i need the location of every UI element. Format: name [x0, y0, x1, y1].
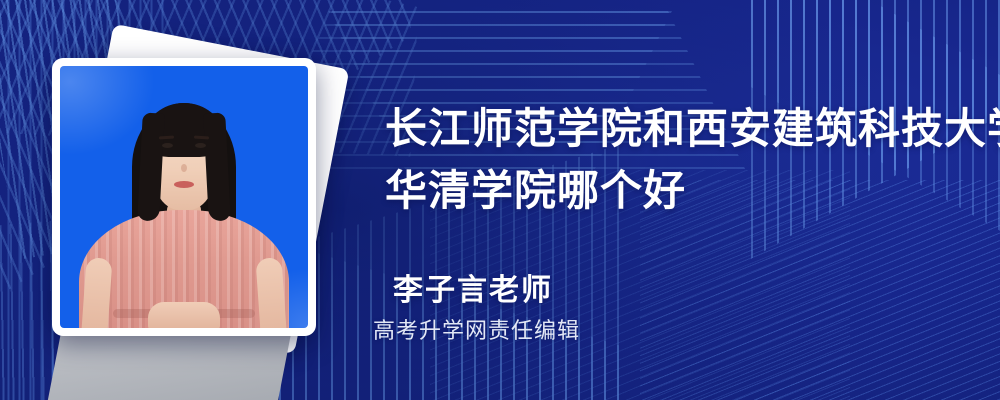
author-name: 李子言老师	[371, 272, 771, 310]
portrait-illustration	[60, 66, 308, 328]
photo-card-front	[52, 58, 316, 336]
portrait-eyebrow-left	[159, 135, 174, 139]
headline: 长江师范学院和西安建筑科技大学 华清学院哪个好	[385, 98, 970, 222]
portrait-eyebrow-right	[194, 135, 209, 139]
author-id-photo	[60, 66, 308, 328]
headline-line-2: 华清学院哪个好	[385, 160, 970, 222]
author-role: 高考升学网责任编辑	[371, 314, 771, 348]
article-banner: 长江师范学院和西安建筑科技大学 华清学院哪个好 李子言老师 高考升学网责任编辑	[0, 0, 1000, 400]
portrait-hair-front	[145, 103, 223, 157]
byline: 李子言老师 高考升学网责任编辑	[371, 272, 771, 348]
portrait-arm-left	[81, 257, 112, 328]
portrait-arm-right	[255, 257, 286, 328]
portrait-hands	[148, 302, 220, 328]
headline-line-1: 长江师范学院和西安建筑科技大学	[385, 98, 970, 160]
photo-stack	[52, 28, 352, 358]
